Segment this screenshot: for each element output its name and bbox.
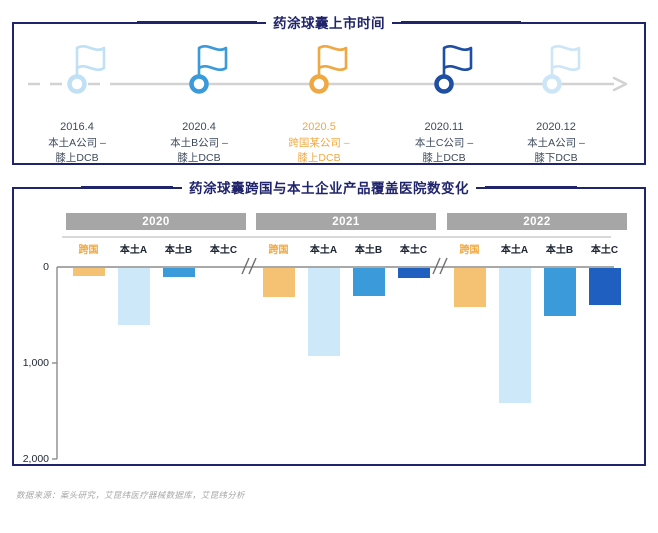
timeline-product: 膝上DCB — [259, 151, 379, 166]
marker-ring-icon — [312, 77, 327, 92]
arrow-right-icon — [614, 78, 626, 90]
title-rule-right — [401, 21, 521, 23]
series-label-2022-本土C: 本土C — [591, 241, 618, 256]
timeline-company: 本土A公司 – — [496, 136, 616, 151]
timeline-label-2020-4: 2020.4 本土B公司 – 膝上DCB — [139, 120, 259, 166]
title-rule-left — [81, 186, 173, 188]
timeline-company: 跨国某公司 – — [259, 136, 379, 151]
timeline-date: 2020.5 — [259, 120, 379, 135]
marker-ring-icon — [192, 77, 207, 92]
bar-2020-本土A[interactable] — [118, 268, 150, 325]
bar-2022-本土B[interactable] — [544, 268, 576, 316]
series-label-2020-本土C: 本土C — [210, 241, 237, 256]
series-label-2020-本土A: 本土A — [120, 241, 147, 256]
chart-panel: 药涂球囊跨国与本土企业产品覆盖医院数变化 20202021202201,0002… — [12, 187, 646, 466]
y-axis-label: 1,000 — [14, 357, 49, 369]
series-label-2020-本土B: 本土B — [165, 241, 192, 256]
marker-ring-icon — [70, 77, 85, 92]
bar-2021-本土B[interactable] — [353, 268, 385, 296]
series-label-2021-本土A: 本土A — [310, 241, 337, 256]
bar-2021-跨国[interactable] — [263, 268, 295, 297]
chart-footnote: 数据来源：案头研究，艾昆纬医疗器械数据库，艾昆纬分析 — [16, 489, 245, 501]
timeline-label-2020-11: 2020.11 本土C公司 – 膝上DCB — [384, 120, 504, 166]
timeline-label-2020-5: 2020.5 跨国某公司 – 膝上DCB — [259, 120, 379, 166]
series-label-2020-跨国: 跨国 — [79, 241, 99, 256]
timeline-company: 本土C公司 – — [384, 136, 504, 151]
timeline-product: 膝上DCB — [17, 151, 137, 166]
series-label-2022-本土A: 本土A — [501, 241, 528, 256]
marker-ring-icon — [545, 77, 560, 92]
timeline-product: 膝上DCB — [384, 151, 504, 166]
bar-2022-本土C[interactable] — [589, 268, 621, 305]
title-rule-left — [137, 21, 257, 23]
y-axis-label: 0 — [14, 261, 49, 273]
year-band-2022: 2022 — [447, 213, 627, 230]
timeline-date: 2020.12 — [496, 120, 616, 135]
axis-break-mark — [433, 258, 447, 274]
year-band-2020: 2020 — [66, 213, 246, 230]
timeline-product: 膝上DCB — [139, 151, 259, 166]
bar-2020-跨国[interactable] — [73, 268, 105, 276]
timeline-label-2020-12: 2020.12 本土A公司 – 膝下DCB — [496, 120, 616, 166]
bar-2020-本土B[interactable] — [163, 268, 195, 277]
bar-chart-plot: 20202021202201,0002,000跨国本土A本土B本土C跨国本土A本… — [14, 189, 644, 464]
marker-ring-icon — [437, 77, 452, 92]
y-axis-label: 2,000 — [14, 453, 49, 465]
timeline-date: 2020.4 — [139, 120, 259, 135]
bar-2021-本土A[interactable] — [308, 268, 340, 356]
series-label-2021-本土B: 本土B — [355, 241, 382, 256]
timeline-company: 本土A公司 – — [17, 136, 137, 151]
year-band-2021: 2021 — [256, 213, 436, 230]
timeline-company: 本土B公司 – — [139, 136, 259, 151]
bar-2021-本土C[interactable] — [398, 268, 430, 278]
series-label-2021-本土C: 本土C — [400, 241, 427, 256]
title-rule-right — [485, 186, 577, 188]
series-label-2021-跨国: 跨国 — [269, 241, 289, 256]
timeline-date: 2016.4 — [17, 120, 137, 135]
timeline-product: 膝下DCB — [496, 151, 616, 166]
series-label-2022-本土B: 本土B — [546, 241, 573, 256]
series-label-2022-跨国: 跨国 — [460, 241, 480, 256]
timeline-panel: 药涂球囊上市时间 — [12, 22, 646, 165]
bar-2022-跨国[interactable] — [454, 268, 486, 307]
timeline-label-2016-4: 2016.4 本土A公司 – 膝上DCB — [17, 120, 137, 166]
bar-2022-本土A[interactable] — [499, 268, 531, 403]
timeline-date: 2020.11 — [384, 120, 504, 135]
axis-break-mark — [242, 258, 256, 274]
